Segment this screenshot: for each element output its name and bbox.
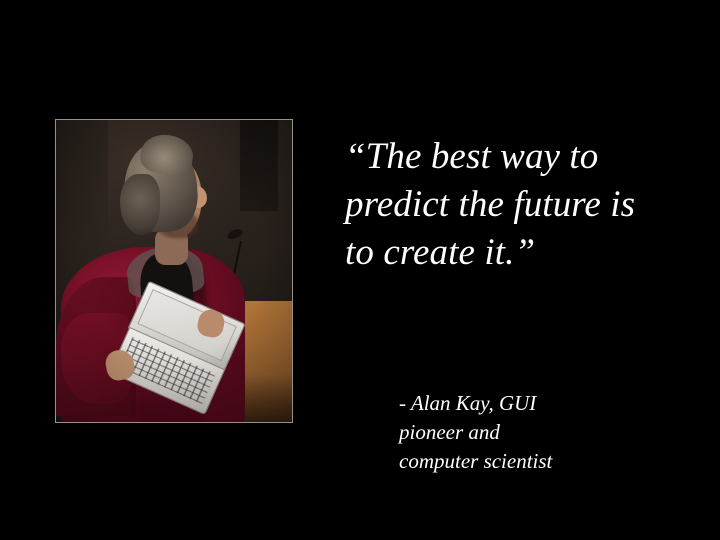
photo-wall-shadow-column <box>240 120 278 211</box>
person-hair-side <box>120 174 160 234</box>
quote-line: predict the future is <box>345 181 700 229</box>
quote-line: to create it.” <box>345 229 700 277</box>
quote-line: “The best way to <box>345 133 700 181</box>
attribution-line: computer scientist <box>399 447 669 476</box>
attribution-line: pioneer and <box>399 418 669 447</box>
quote-attribution: - Alan Kay, GUI pioneer and computer sci… <box>399 389 669 476</box>
quote-text: “The best way to predict the future is t… <box>345 133 700 277</box>
presentation-slide: “The best way to predict the future is t… <box>0 0 720 540</box>
speaker-photo <box>55 119 293 423</box>
attribution-line: - Alan Kay, GUI <box>399 389 669 418</box>
photo-canvas <box>56 120 292 422</box>
